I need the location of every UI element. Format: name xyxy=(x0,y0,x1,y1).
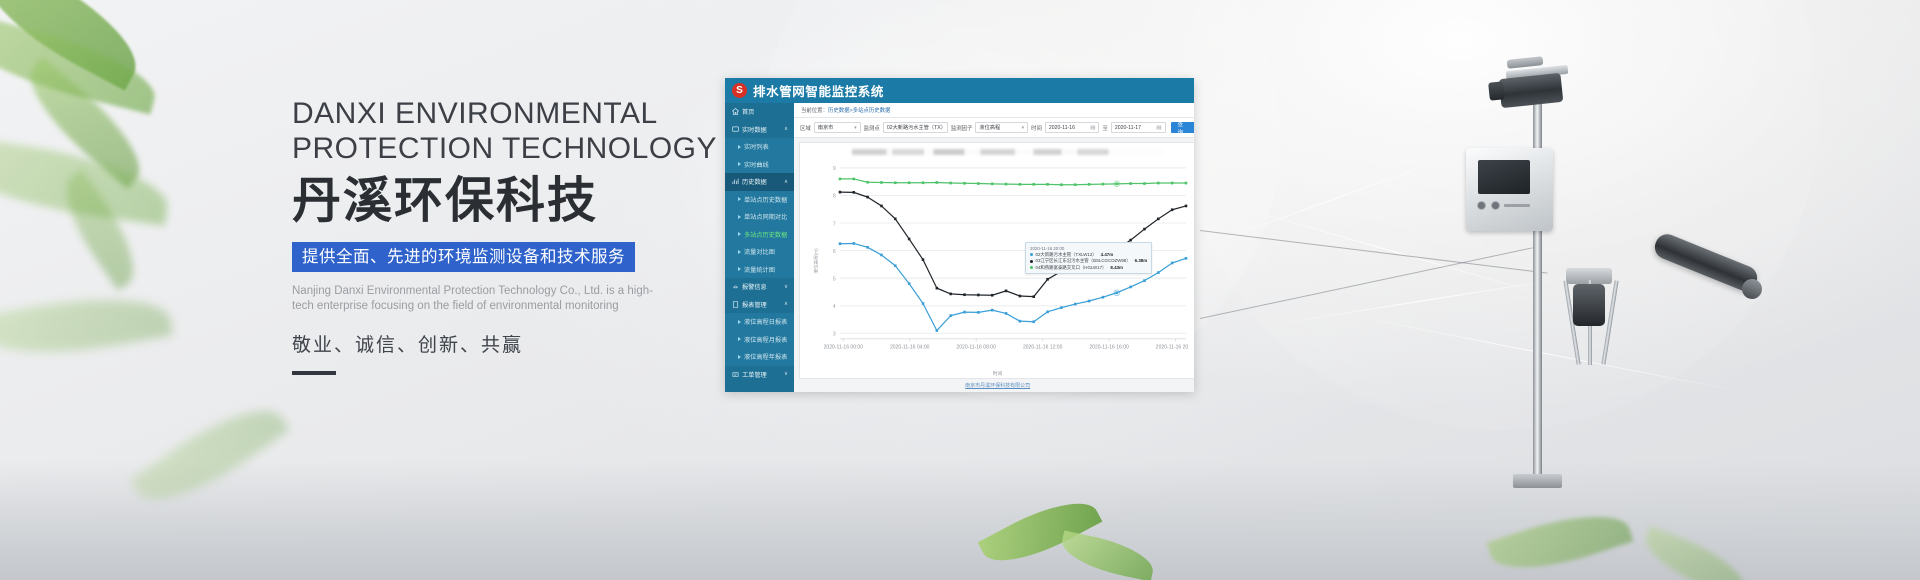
home-icon xyxy=(732,108,739,115)
hero-english-line-2: PROTECTION TECHNOLOGY xyxy=(292,131,732,166)
caret-icon xyxy=(738,215,741,219)
sidebar-item-15[interactable]: 工单管理∨ xyxy=(725,366,794,384)
sidebar-item-2[interactable]: 实时列表 xyxy=(725,138,794,156)
search-button[interactable]: 查询 xyxy=(1171,122,1195,133)
sidebar-item-8[interactable]: 流量对比图 xyxy=(725,243,794,261)
caret-icon xyxy=(738,162,741,166)
svg-text:2020-11-16 12:00: 2020-11-16 12:00 xyxy=(1023,345,1063,351)
page-title: 丹溪环保科技 xyxy=(292,172,732,230)
sidebar-item-label: 流量对比图 xyxy=(744,247,775,256)
sidebar-item-label: 实时曲线 xyxy=(744,160,769,169)
sidebar-item-label: 流量统计图 xyxy=(744,265,775,274)
pole-base xyxy=(1513,474,1562,488)
series-color-dot xyxy=(1030,266,1033,269)
chart-legend[interactable] xyxy=(852,149,1165,155)
caret-icon xyxy=(738,250,741,254)
chevron-down-icon: ▾ xyxy=(848,125,857,131)
tooltip-time: 2020-11-16 20:00 xyxy=(1030,246,1147,251)
tooltip-rows: 02大新路污水主管（TXLW12）4.47m03江宁区长江东沿污水主管（BSLC… xyxy=(1030,252,1147,271)
caret-icon xyxy=(738,197,741,201)
chart-tooltip: 2020-11-16 20:00 02大新路污水主管（TXLW12）4.47m0… xyxy=(1025,242,1152,274)
date-from-value: 2020-11-16 xyxy=(1049,125,1075,131)
sidebar-item-label: 液位高程日报表 xyxy=(744,317,787,326)
sidebar-item-label: 实时列表 xyxy=(744,142,769,151)
hero-tagline-badge: 提供全面、先进的环境监测设备和技术服务 xyxy=(292,242,635,272)
breadcrumb-path: 历史数据>多站点历史数据 xyxy=(828,106,890,114)
tooltip-series-name: 04和燕路富泰路交叉口（HGLW17） xyxy=(1036,265,1107,271)
chevron-down-icon: ▾ xyxy=(1016,125,1025,131)
cabinet-button xyxy=(1478,202,1485,209)
sidebar-item-13[interactable]: 液位高程月报表 xyxy=(725,331,794,349)
chevron-icon: ∧ xyxy=(784,126,788,132)
svg-text:3: 3 xyxy=(833,331,836,337)
site-label: 监测点 xyxy=(864,124,880,132)
sidebar-item-label: 报表管理 xyxy=(742,300,767,309)
background-floor xyxy=(0,460,1920,580)
svg-text:2020-11-16 20:00: 2020-11-16 20:00 xyxy=(1156,345,1190,351)
camera-lens xyxy=(1488,81,1505,100)
svg-text:5: 5 xyxy=(833,276,836,282)
sidebar-item-12[interactable]: 液位高程日报表 xyxy=(725,313,794,331)
sidebar-item-4[interactable]: 历史数据∧ xyxy=(725,173,794,191)
region-select[interactable]: 南京市 ▾ xyxy=(814,122,861,134)
hero-paragraph: Nanjing Danxi Environmental Protection T… xyxy=(292,284,674,314)
content-area: 当前位置： 历史数据>多站点历史数据 区域 南京市 ▾ 监测点 02大新路污水主… xyxy=(794,103,1194,392)
filter-toolbar: 区域 南京市 ▾ 监测点 02大新路污水主管（TX） 监测因子 液位高程 ▾ 时… xyxy=(794,118,1194,138)
footer-company-link[interactable]: 南京市丹溪环保科技有限公司 xyxy=(965,382,1030,389)
sidebar-item-label: 历史数据 xyxy=(742,177,767,186)
sidebar-item-label: 液位高程年报表 xyxy=(744,352,787,361)
app-title: 排水管网智能监控系统 xyxy=(753,81,884,100)
app-header: S 排水管网智能监控系统 xyxy=(725,78,1194,103)
app-footer: 南京市丹溪环保科技有限公司 xyxy=(794,379,1194,392)
sidebar-item-6[interactable]: 单站点同期对比 xyxy=(725,208,794,226)
series-color-dot xyxy=(1030,260,1033,263)
sidebar-item-5[interactable]: 单站点历史数据 xyxy=(725,191,794,209)
chevron-icon: ∧ xyxy=(784,179,788,185)
hero-text-block: DANXI ENVIRONMENTAL PROTECTION TECHNOLOG… xyxy=(292,96,732,375)
chevron-icon: ∧ xyxy=(784,301,788,307)
region-label: 区域 xyxy=(800,124,811,132)
sidebar-item-9[interactable]: 流量统计图 xyxy=(725,261,794,279)
sidebar-item-11[interactable]: 报表管理∧ xyxy=(725,296,794,314)
sidebar-item-14[interactable]: 液位高程年报表 xyxy=(725,348,794,366)
svg-text:7: 7 xyxy=(833,221,836,227)
cabinet-display xyxy=(1478,160,1530,194)
caret-icon xyxy=(738,355,741,359)
bell-icon xyxy=(732,283,739,290)
svg-text:8: 8 xyxy=(833,194,836,200)
breadcrumb: 当前位置： 历史数据>多站点历史数据 xyxy=(794,103,1194,118)
hero-slogan: 敬业、诚信、创新、共赢 xyxy=(292,330,732,357)
sidebar-item-1[interactable]: 实时数据∧ xyxy=(725,121,794,139)
sidebar: 首页实时数据∧实时列表实时曲线历史数据∧单站点历史数据单站点同期对比多站点历史数… xyxy=(725,103,794,392)
svg-text:6: 6 xyxy=(833,249,836,255)
sidebar-item-label: 液位高程月报表 xyxy=(744,335,787,344)
time-label: 时间 xyxy=(1031,124,1042,132)
calendar-icon: ▤ xyxy=(1156,125,1161,131)
date-from-input[interactable]: 2020-11-16 ▤ xyxy=(1045,122,1100,134)
sidebar-item-10[interactable]: 报警信息∨ xyxy=(725,278,794,296)
chart-x-axis-label: 时间 xyxy=(800,370,1194,377)
chevron-icon: ∨ xyxy=(784,371,788,377)
hero-divider xyxy=(292,371,336,375)
hero-english-line-1: DANXI ENVIRONMENTAL xyxy=(292,96,732,131)
chart-card: 液位高程(m) 34567892020-11-16 00:002020-11-1… xyxy=(799,142,1194,379)
app-logo-icon: S xyxy=(732,83,747,98)
monitoring-pole xyxy=(1533,70,1542,480)
chevron-icon: ∨ xyxy=(784,284,788,290)
factor-select[interactable]: 液位高程 ▾ xyxy=(975,122,1028,134)
banner-stage: DANXI ENVIRONMENTAL PROTECTION TECHNOLOG… xyxy=(0,0,1920,580)
svg-text:4: 4 xyxy=(833,304,836,310)
calendar-icon: ▤ xyxy=(1090,125,1095,131)
breadcrumb-prefix: 当前位置： xyxy=(801,106,828,114)
sidebar-item-label: 单站点同期对比 xyxy=(744,212,787,221)
tripod-instrument xyxy=(1573,284,1605,326)
cabinet-label-strip xyxy=(1504,204,1530,207)
site-select[interactable]: 02大新路污水主管（TX） xyxy=(883,122,948,134)
ticket-icon xyxy=(732,371,739,378)
svg-text:9: 9 xyxy=(833,166,836,172)
factor-label: 监测因子 xyxy=(951,124,973,132)
date-to-value: 2020-11-17 xyxy=(1115,125,1141,131)
factor-value: 液位高程 xyxy=(979,124,1000,131)
caret-icon xyxy=(738,145,741,149)
svg-text:2020-11-16 08:00: 2020-11-16 08:00 xyxy=(956,345,996,351)
svg-text:2020-11-16 00:00: 2020-11-16 00:00 xyxy=(824,345,864,351)
tooltip-series-value: 8.43m xyxy=(1110,265,1122,271)
sidebar-item-label: 报警信息 xyxy=(742,282,767,291)
caret-icon xyxy=(738,232,741,236)
cabinet-button xyxy=(1492,202,1499,209)
caret-icon xyxy=(738,320,741,324)
caret-icon xyxy=(738,337,741,341)
report-icon xyxy=(732,301,739,308)
monitoring-app-window: S 排水管网智能监控系统 首页实时数据∧实时列表实时曲线历史数据∧单站点历史数据… xyxy=(725,78,1194,392)
sidebar-item-label: 工单管理 xyxy=(742,370,767,379)
tooltip-series-value: 6.38m xyxy=(1135,258,1147,264)
site-value: 02大新路污水主管（TX） xyxy=(887,124,946,131)
monitor-icon xyxy=(732,126,739,133)
sidebar-item-7[interactable]: 多站点历史数据 xyxy=(725,226,794,244)
svg-text:2020-11-16 04:00: 2020-11-16 04:00 xyxy=(890,345,930,351)
chart-icon xyxy=(732,178,739,185)
date-to-input[interactable]: 2020-11-17 ▤ xyxy=(1111,122,1166,134)
sidebar-item-label: 单站点历史数据 xyxy=(744,195,787,204)
svg-text:2020-11-16 16:00: 2020-11-16 16:00 xyxy=(1089,345,1129,351)
region-value: 南京市 xyxy=(818,124,834,131)
series-color-dot xyxy=(1030,253,1033,256)
sidebar-item-label: 首页 xyxy=(742,107,754,116)
caret-icon xyxy=(738,267,741,271)
sidebar-item-3[interactable]: 实时曲线 xyxy=(725,156,794,174)
app-body: 首页实时数据∧实时列表实时曲线历史数据∧单站点历史数据单站点同期对比多站点历史数… xyxy=(725,103,1194,392)
tooltip-row-2: 04和燕路富泰路交叉口（HGLW17）8.43m xyxy=(1030,265,1147,271)
sidebar-item-label: 多站点历史数据 xyxy=(744,230,787,239)
date-separator: 至 xyxy=(1102,124,1107,132)
sidebar-item-label: 实时数据 xyxy=(742,125,767,134)
sidebar-item-0[interactable]: 首页 xyxy=(725,103,794,121)
